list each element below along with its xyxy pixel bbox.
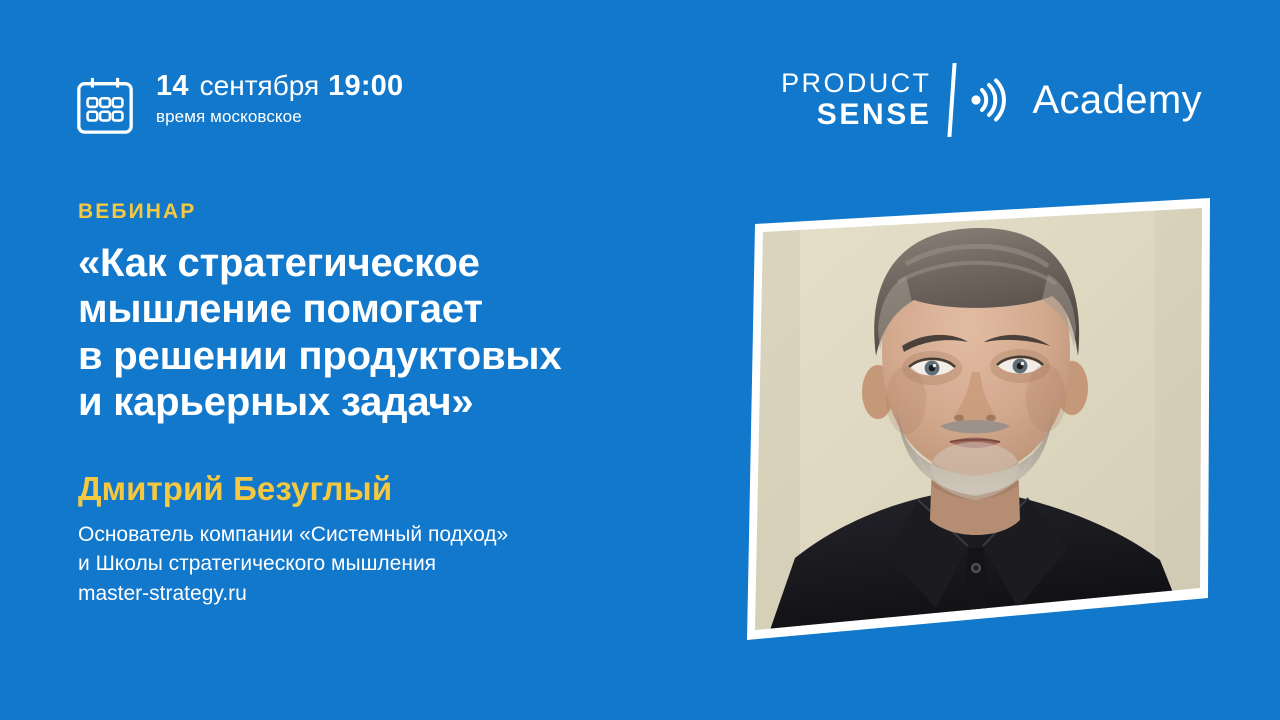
- title-line: «Как стратегическое: [78, 240, 688, 286]
- page-title: «Как стратегическое мышление помогает в …: [78, 240, 688, 426]
- date-block: 14 сентября 19:00 время московское: [74, 68, 403, 136]
- product-sense-academy-logo: PRODUCT SENSE Academy: [781, 62, 1202, 138]
- webinar-poster: 14 сентября 19:00 время московское PRODU…: [0, 0, 1280, 720]
- speaker-name: Дмитрий Безуглый: [78, 470, 688, 508]
- speaker-photo-svg: [700, 160, 1240, 680]
- product-sense-wordmark: PRODUCT SENSE: [781, 70, 932, 130]
- date-text-wrap: 14 сентября 19:00 время московское: [156, 68, 403, 127]
- speaker-website: master-strategy.ru: [78, 579, 688, 609]
- date-time: 19:00: [328, 70, 403, 103]
- speaker-description: Основатель компании «Системный подход» и…: [78, 520, 688, 609]
- kicker-label: ВЕБИНАР: [78, 200, 688, 224]
- date-day: 14: [156, 70, 189, 103]
- title-line: мышление помогает: [78, 286, 688, 332]
- logo-sense-text: SENSE: [817, 100, 933, 130]
- title-line: в решении продуктовых: [78, 333, 688, 379]
- signal-waves-icon: [970, 78, 1010, 122]
- logo-divider: [948, 63, 957, 137]
- calendar-icon: [74, 74, 136, 136]
- date-line: 14 сентября 19:00: [156, 70, 403, 103]
- speaker-description-line: Основатель компании «Системный подход»: [78, 520, 688, 550]
- timezone-note: время московское: [156, 107, 403, 127]
- content-column: ВЕБИНАР «Как стратегическое мышление пом…: [78, 200, 688, 609]
- logo-product-text: PRODUCT: [781, 70, 932, 97]
- title-line: и карьерных задач»: [78, 379, 688, 425]
- date-month: сентября: [200, 70, 319, 102]
- photo-content: [740, 190, 1230, 650]
- logo-academy-text: Academy: [1032, 78, 1202, 123]
- speaker-description-line: и Школы стратегического мышления: [78, 549, 688, 579]
- speaker-photo: [700, 160, 1240, 680]
